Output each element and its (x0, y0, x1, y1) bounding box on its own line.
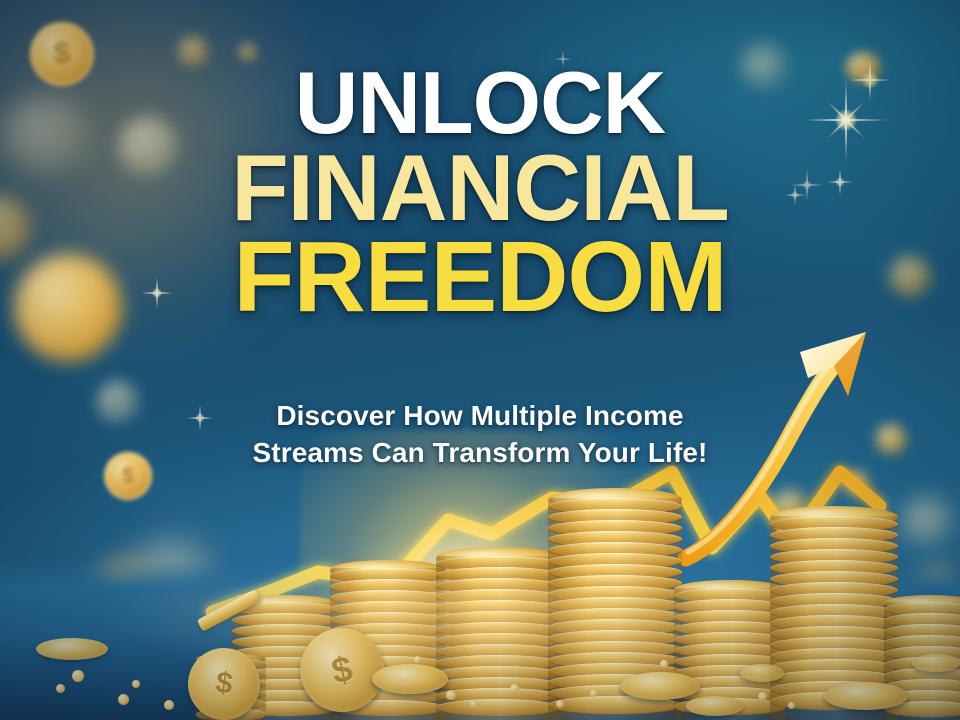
headline-line-3: FREEDOM (0, 231, 960, 324)
poster-canvas: $ $ (0, 0, 960, 720)
subheadline-block: Discover How Multiple Income Streams Can… (0, 398, 960, 472)
headline-block: UNLOCK FINANCIAL FREEDOM (0, 62, 960, 324)
headline-line-2: FINANCIAL (0, 144, 960, 231)
subheadline-line-1: Discover How Multiple Income (0, 398, 960, 435)
headline-line-1: UNLOCK (0, 62, 960, 144)
subheadline-line-2: Streams Can Transform Your Life! (0, 435, 960, 472)
